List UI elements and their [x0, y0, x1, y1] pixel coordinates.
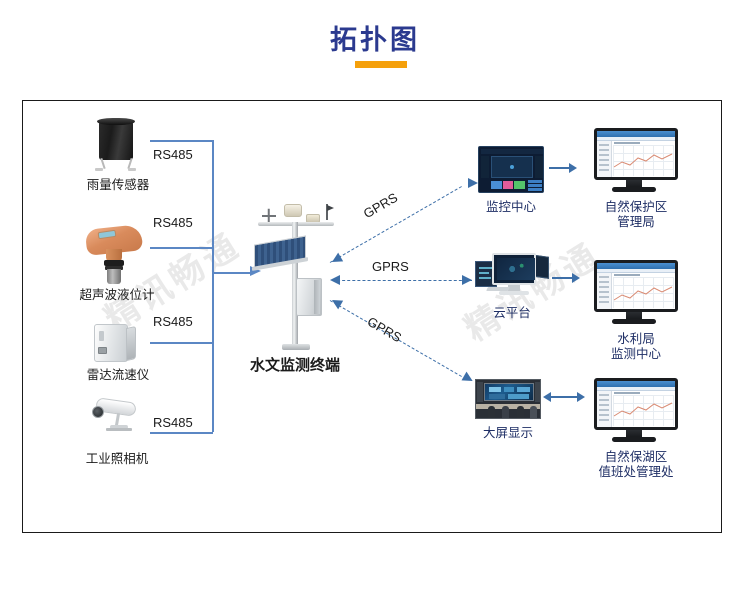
link-arrow-reserve-bureau	[569, 163, 577, 173]
link-arrow-water-bureau	[572, 273, 580, 283]
radar-flow-meter-icon	[88, 322, 146, 366]
rs485-bus-branch	[150, 432, 213, 434]
gprs-arrow-cloud-platform-back	[330, 275, 340, 285]
rs485-label-rain-gauge: RS485	[153, 147, 193, 162]
monitoring-center-screen-icon	[478, 146, 544, 193]
link-arrow-lake-office	[577, 392, 585, 402]
rs485-bus-branch	[150, 342, 213, 344]
page-title: 拓扑图	[0, 18, 750, 57]
platform-label-cloud-platform: 云平台	[462, 306, 562, 321]
client-label-reserve-bureau-line1: 自然保护区	[586, 200, 686, 215]
rain-gauge-icon	[88, 118, 144, 174]
control-room-big-screen-icon	[475, 379, 541, 419]
sensor-label-rain-gauge: 雨量传感器	[58, 178, 178, 193]
sensor-label-ultrasonic-level: 超声波液位计	[52, 288, 182, 303]
rs485-bus-trunk	[212, 140, 214, 432]
rs485-bus-branch	[150, 247, 213, 249]
camera-icon	[86, 396, 152, 438]
client-label-lake-office-line1: 自然保湖区	[580, 450, 692, 465]
client-label-reserve-bureau-line2: 管理局	[586, 215, 686, 230]
link-arrow-lake-office-back	[543, 392, 551, 402]
platform-label-big-screen: 大屏显示	[458, 426, 558, 441]
sensor-label-industrial-camera: 工业照相机	[52, 452, 182, 467]
gprs-label-cloud-platform: GPRS	[372, 259, 409, 274]
rs485-label-ultrasonic-level: RS485	[153, 215, 193, 230]
topology-diagram-page: 拓扑图 精讯畅通 精讯畅通 雨量传感器 超声波液位计 雷达流速仪	[0, 0, 750, 606]
link-cloud-platform-to-water-bureau	[552, 277, 574, 279]
rs485-label-radar-flow: RS485	[153, 314, 193, 329]
cloud-platform-screens-icon	[475, 253, 549, 303]
gprs-arrow-to-monitoring-center	[468, 178, 478, 188]
client-label-water-bureau-line2: 监测中心	[586, 347, 686, 362]
gprs-link-cloud-platform	[332, 280, 472, 281]
client-label-lake-office-line2: 值班处管理处	[580, 465, 692, 480]
gprs-arrow-cloud-platform-fwd	[462, 275, 472, 285]
terminal-label: 水文监测终端	[230, 358, 360, 373]
rs485-label-industrial-camera: RS485	[153, 415, 193, 430]
link-monitoring-center-to-reserve-bureau	[549, 167, 571, 169]
sensor-label-radar-flow: 雷达流速仪	[58, 368, 178, 383]
platform-label-monitoring-center: 监控中心	[461, 200, 561, 215]
client-label-water-bureau-line1: 水利局	[586, 332, 686, 347]
title-accent-bar	[355, 61, 407, 68]
rs485-bus-branch	[150, 140, 213, 142]
ultrasonic-level-icon	[80, 225, 150, 287]
